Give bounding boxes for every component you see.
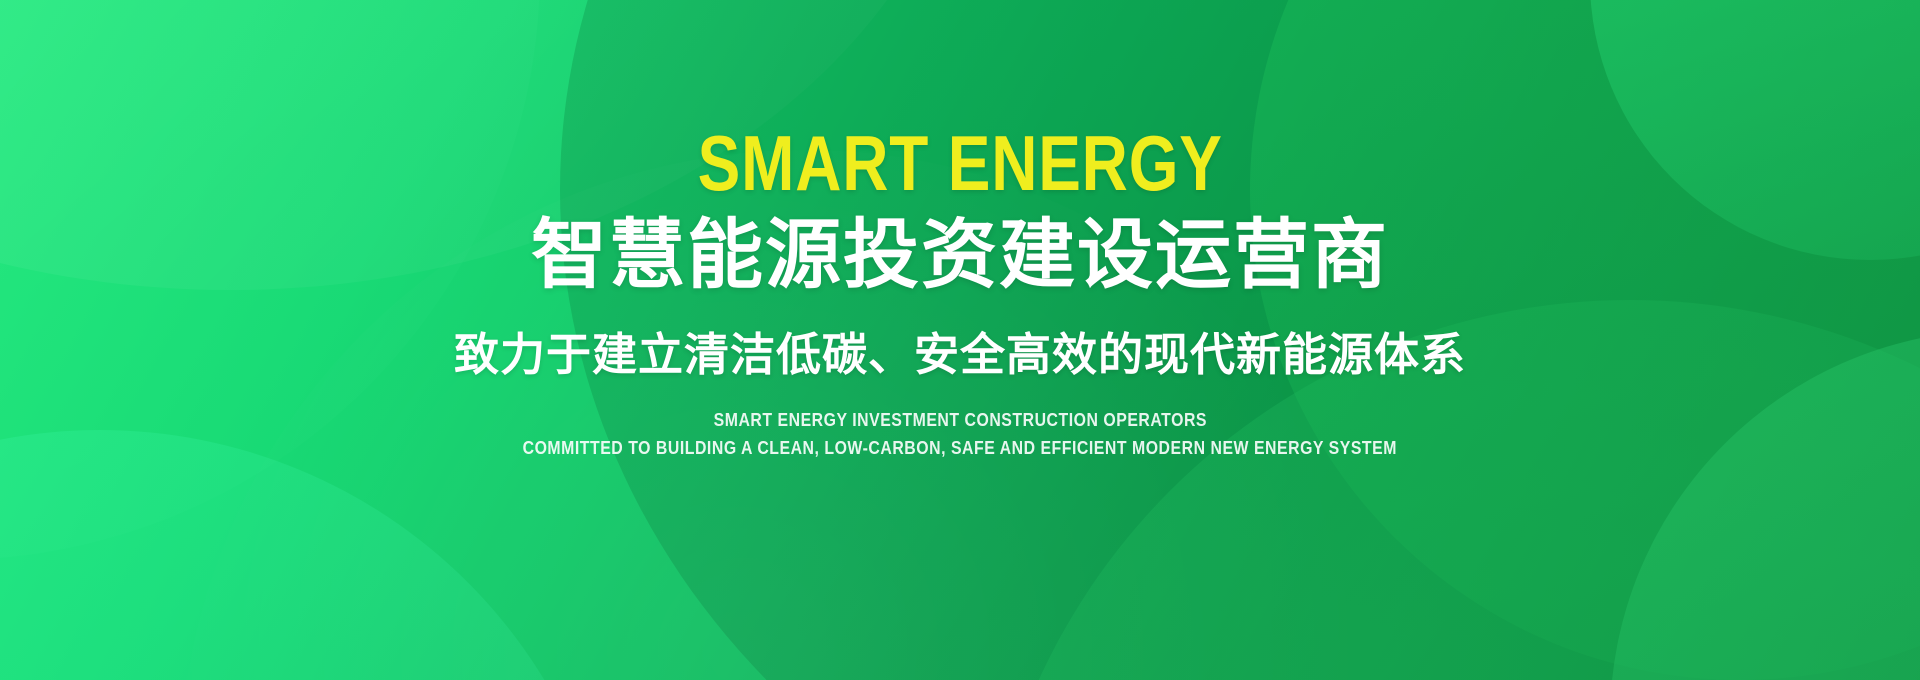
banner-subtitle-english-line2: COMMITTED TO BUILDING A CLEAN, LOW-CARBO… [523, 434, 1397, 462]
banner-subtitle-english-line1: SMART ENERGY INVESTMENT CONSTRUCTION OPE… [713, 406, 1206, 434]
hero-banner: SMART ENERGY 智慧能源投资建设运营商 致力于建立清洁低碳、安全高效的… [0, 0, 1920, 680]
banner-title-chinese: 智慧能源投资建设运营商 [531, 216, 1389, 296]
banner-content: SMART ENERGY 智慧能源投资建设运营商 致力于建立清洁低碳、安全高效的… [0, 0, 1920, 680]
banner-subtitle-chinese: 致力于建立清洁低碳、安全高效的现代新能源体系 [454, 330, 1466, 380]
banner-title-english: SMART ENERGY [697, 124, 1222, 202]
